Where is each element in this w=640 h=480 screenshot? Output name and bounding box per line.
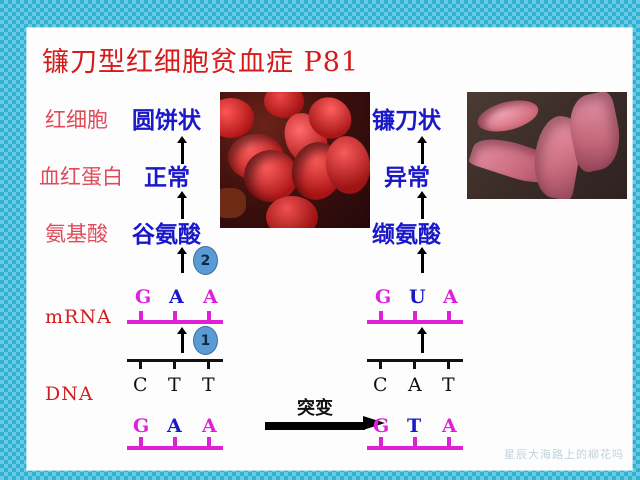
mutant-mrna-tick-1 (379, 311, 383, 321)
mutant-dna-bottom-tick-2 (413, 437, 417, 447)
mutant-mrna-base-2: U (409, 286, 426, 308)
normal-dna-antisense-base-1: G (133, 415, 149, 437)
mutant-dna-sense-base-1: C (373, 374, 388, 396)
normal-dna-sense-base-1: C (133, 374, 148, 396)
arrow-up-mutant-mrna-to-aa (415, 247, 429, 273)
sickle-blood-cells-photo (467, 92, 627, 199)
normal-dna-top-tick-3 (207, 359, 210, 369)
step-marker-1[interactable]: 1 (193, 326, 218, 355)
mutant-mrna-base-1: G (375, 286, 391, 308)
mutant-mrna-base-3: A (443, 286, 458, 308)
mutant-dna-sense-base-3: T (442, 374, 455, 396)
mutation-arrow-icon (265, 419, 385, 432)
row-label-amino-acid: 氨基酸 (45, 218, 108, 248)
normal-amino-acid: 谷氨酸 (132, 215, 201, 249)
normal-dna-bottom-tick-3 (207, 437, 211, 447)
row-label-mrna: mRNA (45, 306, 112, 328)
mutant-dna-bottom-tick-3 (447, 437, 451, 447)
mutant-dna-top-tick-1 (379, 359, 382, 369)
arrow-up-mutant-dna-to-mrna (415, 327, 429, 353)
normal-cell-shape: 圆饼状 (132, 101, 201, 135)
mutant-amino-acid: 缬氨酸 (372, 215, 441, 249)
normal-dna-bottom-tick-1 (139, 437, 143, 447)
normal-mrna-tick-3 (207, 311, 211, 321)
normal-dna-antisense-base-2: A (167, 415, 182, 437)
normal-protein-state: 正常 (144, 158, 190, 192)
slide-panel: 镰刀型红细胞贫血症 P81 红细胞 圆饼状 血红蛋白 正常 氨基酸 谷氨酸 2 … (27, 28, 632, 470)
mutant-mrna-tick-3 (447, 311, 451, 321)
row-label-dna: DNA (45, 383, 94, 405)
arrow-up-normal-dna-to-mrna (175, 327, 189, 353)
arrow-up-normal-mrna-to-aa (175, 247, 189, 273)
normal-dna-top-tick-1 (139, 359, 142, 369)
normal-dna-sense-base-3: T (202, 374, 215, 396)
mutant-dna-bottom-tick-1 (379, 437, 383, 447)
mutation-label: 突变 (297, 394, 333, 420)
page-title: 镰刀型红细胞贫血症 P81 (42, 40, 359, 79)
mutant-dna-top-tick-3 (447, 359, 450, 369)
normal-mrna-base-1: G (135, 286, 151, 308)
mutant-cell-shape: 镰刀状 (372, 101, 441, 135)
mutant-dna-antisense-base-1: G (373, 415, 389, 437)
normal-dna-antisense-base-3: A (202, 415, 217, 437)
mutant-dna-sense-base-2: A (408, 374, 422, 396)
mutant-dna-antisense-base-3: A (442, 415, 457, 437)
mutant-dna-antisense-base-2: T (407, 415, 421, 437)
watermark: 星辰大海路上的柳花吗 (504, 446, 624, 462)
normal-mrna-tick-1 (139, 311, 143, 321)
row-label-hemoglobin: 血红蛋白 (39, 161, 123, 191)
normal-dna-bottom-tick-2 (173, 437, 177, 447)
row-label-red-blood-cell: 红细胞 (45, 104, 108, 134)
normal-dna-top-tick-2 (173, 359, 176, 369)
normal-dna-sense-base-2: T (168, 374, 181, 396)
mutant-protein-state: 异常 (384, 158, 430, 192)
normal-mrna-base-3: A (203, 286, 218, 308)
mutant-dna-top-tick-2 (413, 359, 416, 369)
mutant-mrna-tick-2 (413, 311, 417, 321)
normal-mrna-tick-2 (173, 311, 177, 321)
step-marker-2[interactable]: 2 (193, 246, 218, 275)
normal-mrna-base-2: A (169, 286, 184, 308)
normal-blood-cells-photo (220, 92, 370, 228)
